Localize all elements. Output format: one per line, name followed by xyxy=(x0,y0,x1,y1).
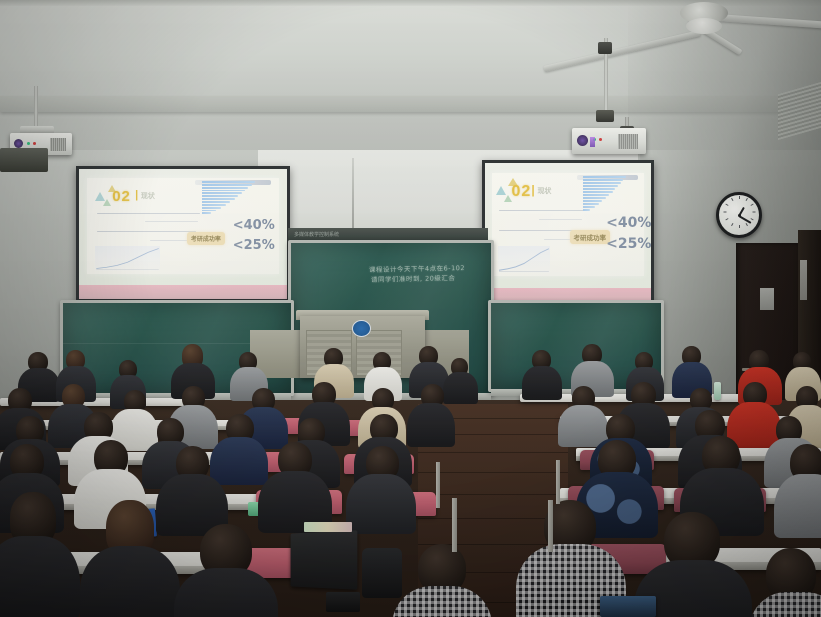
projection-screen-right: 02 | 现状 xyxy=(482,160,654,306)
podium-logo-icon xyxy=(352,320,371,337)
smartphone[interactable] xyxy=(326,592,360,612)
lecture-hall-photo: 02 | 现状 xyxy=(0,0,821,617)
slide-footer-band-left xyxy=(79,285,287,299)
slide-section-divider: | xyxy=(531,183,534,197)
slide-mini-chart-right xyxy=(498,246,550,273)
door-vision-panel xyxy=(760,288,774,310)
tablet-device[interactable] xyxy=(291,530,358,590)
slide-right: 02 | 现状 xyxy=(492,173,645,277)
slide-stat-secondary-left: <25% xyxy=(233,238,275,253)
desk-leg xyxy=(548,500,553,552)
blackboard-chalk-line-2: 请同学们准时到, 20级汇合 xyxy=(371,274,456,285)
paper-sheet xyxy=(304,522,352,532)
projector-left xyxy=(10,86,76,156)
wall-control-panel xyxy=(0,148,48,172)
blackboard-system-label: 多媒体教学控制系统 xyxy=(294,231,339,238)
triangle-decor-icon xyxy=(103,199,111,206)
fan-pull-cord xyxy=(352,158,354,230)
slide-section-label: 现状 xyxy=(537,186,551,196)
wall-clock xyxy=(716,192,762,238)
projection-screen-left: 02 | 现状 xyxy=(76,166,290,302)
projector-lens-left xyxy=(14,139,23,148)
slide-badge-left: 考研成功率 xyxy=(187,232,225,245)
slide-badge-right: 考研成功率 xyxy=(570,230,611,244)
slide-bar-chart-right xyxy=(583,176,640,207)
slide-mini-chart-left xyxy=(95,246,160,271)
slide-section-divider: | xyxy=(135,189,138,201)
door-gap-light xyxy=(800,260,807,300)
slide-left: 02 | 现状 xyxy=(87,178,278,274)
desk-leg xyxy=(452,498,457,552)
tablet-device[interactable] xyxy=(600,596,656,617)
slide-bar-chart-left xyxy=(202,181,273,210)
slide-section-number: 02 xyxy=(511,183,531,201)
slide-stat-primary-right: <40% xyxy=(606,215,651,231)
projector-lens-right xyxy=(577,135,588,146)
slide-stat-secondary-right: <25% xyxy=(606,236,651,252)
desk-leg xyxy=(436,462,440,508)
water-bottle xyxy=(714,382,721,400)
backpack xyxy=(362,548,402,598)
slide-section-label: 现状 xyxy=(141,191,155,201)
slide-section-number: 02 xyxy=(112,188,131,205)
projector-right xyxy=(572,38,652,162)
slide-stat-primary-left: <40% xyxy=(233,218,275,233)
desk-leg xyxy=(556,460,560,504)
